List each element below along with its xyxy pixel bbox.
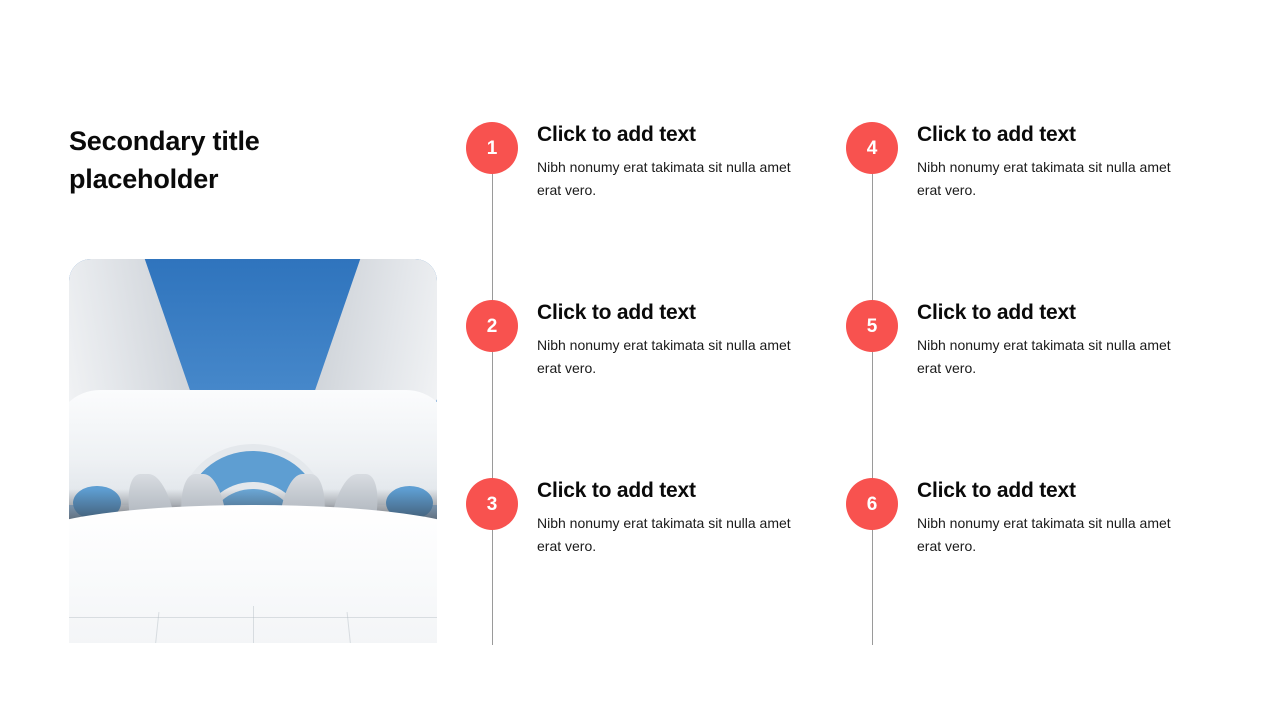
step-number-badge[interactable]: 5 (846, 300, 898, 352)
step-heading[interactable]: Click to add text (917, 300, 1179, 326)
step-content: Click to add text Nibh nonumy erat takim… (917, 300, 1179, 380)
step-description[interactable]: Nibh nonumy erat takimata sit nulla amet… (917, 156, 1179, 202)
step-content: Click to add text Nibh nonumy erat takim… (917, 478, 1179, 558)
timeline-rail (492, 147, 493, 645)
step-heading[interactable]: Click to add text (537, 122, 799, 148)
step-number-badge[interactable]: 4 (846, 122, 898, 174)
step-number-badge[interactable]: 6 (846, 478, 898, 530)
photo-floor (69, 505, 437, 643)
step-content: Click to add text Nibh nonumy erat takim… (537, 478, 799, 558)
step-description[interactable]: Nibh nonumy erat takimata sit nulla amet… (537, 334, 799, 380)
step-description[interactable]: Nibh nonumy erat takimata sit nulla amet… (917, 334, 1179, 380)
step-heading[interactable]: Click to add text (537, 300, 799, 326)
slide-image[interactable] (69, 259, 437, 643)
step-heading[interactable]: Click to add text (917, 122, 1179, 148)
step-number-badge[interactable]: 3 (466, 478, 518, 530)
step-description[interactable]: Nibh nonumy erat takimata sit nulla amet… (537, 156, 799, 202)
step-content: Click to add text Nibh nonumy erat takim… (537, 300, 799, 380)
floor-seam (253, 606, 254, 643)
step-description[interactable]: Nibh nonumy erat takimata sit nulla amet… (537, 512, 799, 558)
step-description[interactable]: Nibh nonumy erat takimata sit nulla amet… (917, 512, 1179, 558)
step-heading[interactable]: Click to add text (917, 478, 1179, 504)
step-number-badge[interactable]: 1 (466, 122, 518, 174)
slide-canvas: Secondary title placeholder (0, 0, 1280, 720)
timeline-rail (872, 147, 873, 645)
step-content: Click to add text Nibh nonumy erat takim… (917, 122, 1179, 202)
step-number-badge[interactable]: 2 (466, 300, 518, 352)
step-content: Click to add text Nibh nonumy erat takim… (537, 122, 799, 202)
architecture-photo (69, 259, 437, 643)
page-title[interactable]: Secondary title placeholder (69, 122, 369, 198)
step-heading[interactable]: Click to add text (537, 478, 799, 504)
title-block: Secondary title placeholder (69, 122, 449, 198)
